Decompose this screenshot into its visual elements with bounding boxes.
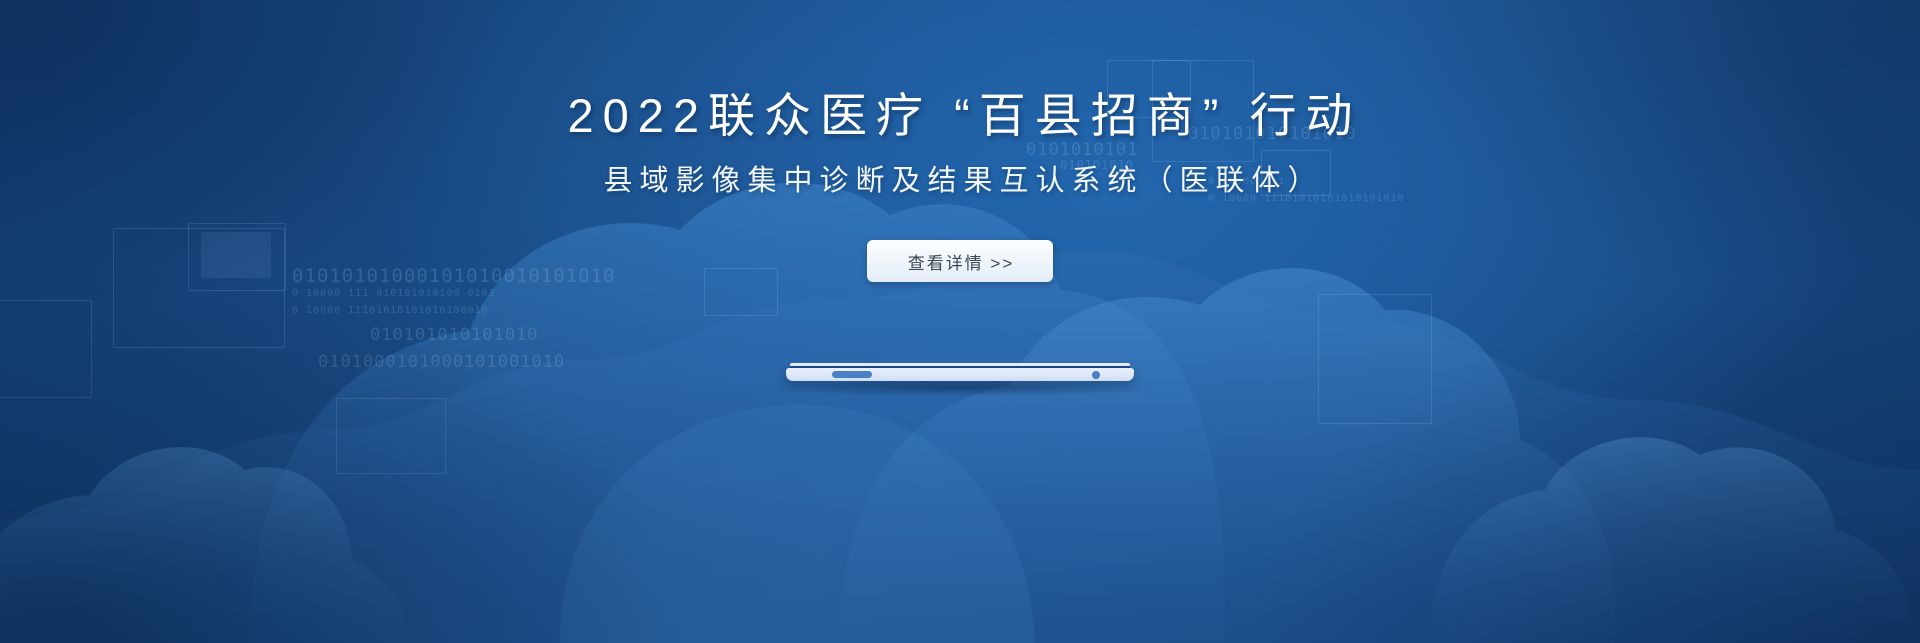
decorative-rectangle	[1318, 294, 1432, 424]
binary-decoration: 0 10000 11101010101010100010	[292, 305, 489, 316]
view-details-button[interactable]: 查看详情 >>	[867, 240, 1053, 282]
banner-subtitle: 县域影像集中诊断及结果互认系统（医联体）	[596, 167, 1323, 196]
binary-decoration: 0101000101000101001010	[318, 352, 565, 372]
banner-content: 2022联众医疗 “百县招商” 行动 县域影像集中诊断及结果互认系统（医联体） …	[0, 0, 1920, 282]
laptop-indicator-dot	[1092, 371, 1100, 379]
binary-decoration: 0 10000 111 010101010100 0101	[292, 288, 496, 299]
decorative-rectangle	[0, 300, 92, 398]
decorative-rectangle	[336, 398, 446, 474]
laptop-device-illustration	[786, 363, 1134, 385]
laptop-trackpad-notch	[832, 371, 872, 378]
binary-decoration: 010101010101010	[370, 325, 539, 345]
promo-banner: 01010101000101010010101010 0 10000 111 0…	[0, 0, 1920, 643]
banner-title: 2022联众医疗 “百县招商” 行动	[559, 92, 1362, 139]
laptop-shadow	[766, 380, 1154, 396]
